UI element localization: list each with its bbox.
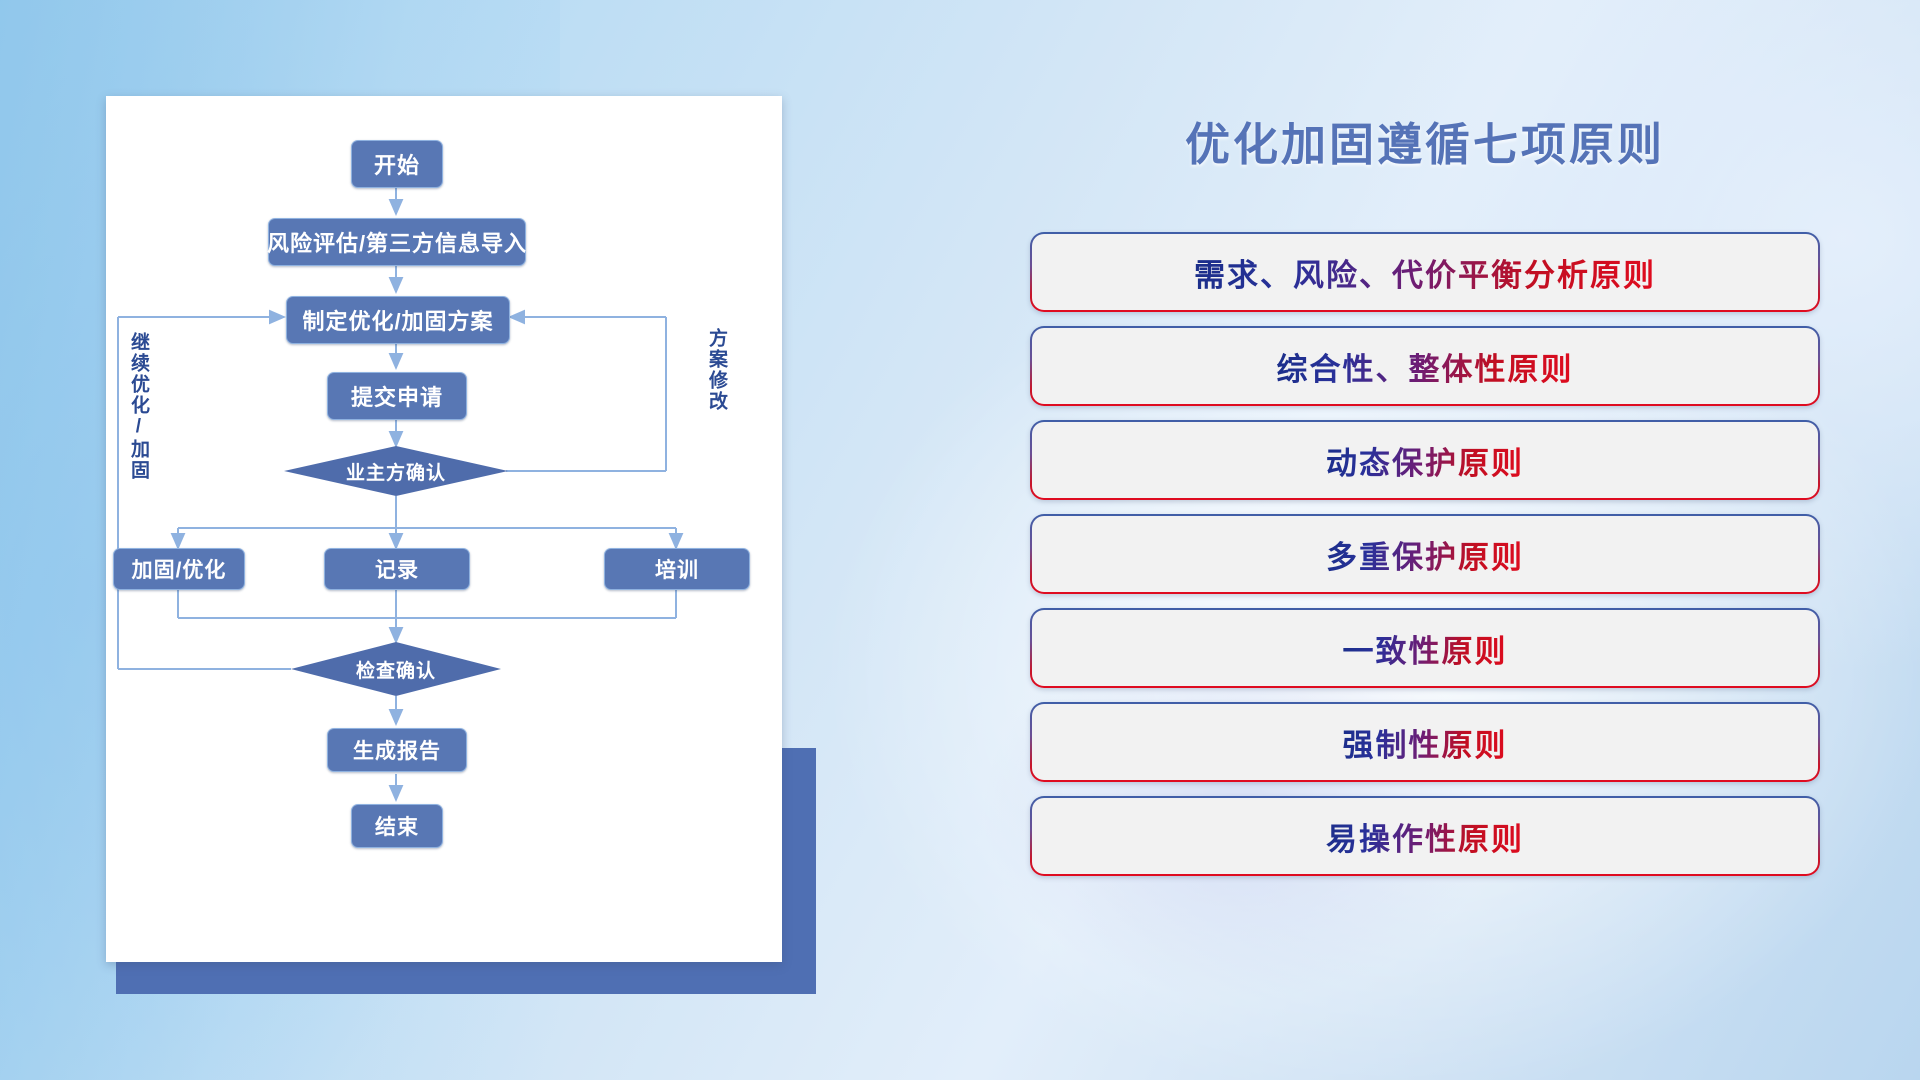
- principle-item[interactable]: 需求、风险、代价平衡分析原则: [1030, 232, 1820, 312]
- flow-node-label: 结束: [375, 811, 419, 841]
- flow-node-label: 生成报告: [353, 735, 441, 765]
- flow-node-check-confirm[interactable]: 检查确认: [291, 642, 501, 696]
- flow-node-owner-confirm[interactable]: 业主方确认: [284, 446, 508, 496]
- principle-item-surface: 动态保护原则: [1032, 422, 1818, 498]
- flow-node-label: 业主方确认: [346, 458, 446, 485]
- principle-item-surface: 强制性原则: [1032, 704, 1818, 780]
- principle-item[interactable]: 易操作性原则: [1030, 796, 1820, 876]
- flow-node-label: 培训: [655, 554, 699, 584]
- principle-item[interactable]: 综合性、整体性原则: [1030, 326, 1820, 406]
- principle-item[interactable]: 多重保护原则: [1030, 514, 1820, 594]
- principle-item-surface: 综合性、整体性原则: [1032, 328, 1818, 404]
- principle-item-surface: 易操作性原则: [1032, 798, 1818, 874]
- flow-node-plan[interactable]: 制定优化/加固方案: [286, 296, 510, 344]
- flow-node-training[interactable]: 培训: [604, 548, 750, 590]
- flow-node-record[interactable]: 记录: [324, 548, 470, 590]
- flow-node-label: 加固/优化: [132, 554, 227, 584]
- principle-label: 强制性原则: [1343, 720, 1508, 765]
- principle-item[interactable]: 强制性原则: [1030, 702, 1820, 782]
- principle-label: 需求、风险、代价平衡分析原则: [1194, 250, 1656, 295]
- principles-list: 需求、风险、代价平衡分析原则 综合性、整体性原则 动态保护原则 多重保护原则 一…: [1030, 232, 1820, 890]
- principle-label: 综合性、整体性原则: [1277, 344, 1574, 389]
- principle-item[interactable]: 动态保护原则: [1030, 420, 1820, 500]
- principle-item-surface: 一致性原则: [1032, 610, 1818, 686]
- principle-label: 动态保护原则: [1326, 438, 1524, 483]
- flowchart-card: 开始 风险评估/第三方信息导入 制定优化/加固方案 提交申请 业主方确认 加固/…: [106, 96, 782, 962]
- flow-node-start[interactable]: 开始: [351, 140, 443, 188]
- principle-item[interactable]: 一致性原则: [1030, 608, 1820, 688]
- flow-node-label: 制定优化/加固方案: [302, 304, 493, 336]
- flow-node-generate-report[interactable]: 生成报告: [327, 728, 467, 772]
- flow-node-end[interactable]: 结束: [351, 804, 443, 848]
- flow-node-submit-application[interactable]: 提交申请: [327, 372, 467, 420]
- flow-node-reinforce[interactable]: 加固/优化: [113, 548, 245, 590]
- flow-node-label: 开始: [374, 148, 420, 180]
- panel-title: 优化加固遵循七项原则: [1010, 108, 1840, 173]
- principles-panel: 优化加固遵循七项原则 需求、风险、代价平衡分析原则 综合性、整体性原则 动态保护…: [1010, 90, 1840, 1000]
- flow-node-label: 风险评估/第三方信息导入: [267, 226, 527, 258]
- flow-node-label: 检查确认: [356, 656, 436, 683]
- flow-edge-label-left-loop: 继续优化/加固: [128, 332, 148, 481]
- principle-item-surface: 多重保护原则: [1032, 516, 1818, 592]
- principle-item-surface: 需求、风险、代价平衡分析原则: [1032, 234, 1818, 310]
- principle-label: 多重保护原则: [1326, 532, 1524, 577]
- flow-node-risk-assessment[interactable]: 风险评估/第三方信息导入: [268, 218, 526, 266]
- flow-node-label: 记录: [375, 554, 419, 584]
- principle-label: 一致性原则: [1343, 626, 1508, 671]
- flow-edge-label-right-loop: 方案修改: [706, 328, 726, 412]
- flow-node-label: 提交申请: [351, 380, 443, 412]
- principle-label: 易操作性原则: [1326, 814, 1524, 859]
